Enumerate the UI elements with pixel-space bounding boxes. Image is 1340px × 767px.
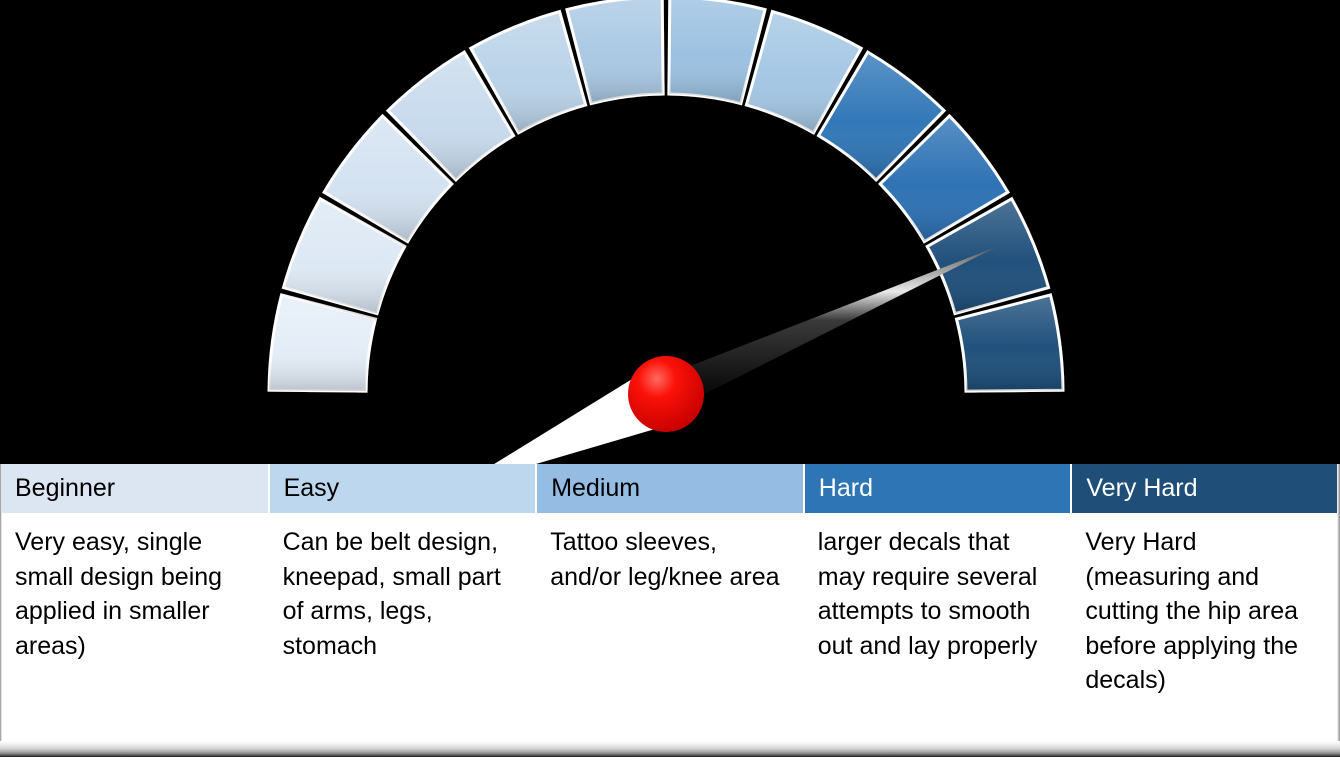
difficulty-legend-table: Beginner Easy Medium Hard Very Hard Very… [0,464,1340,767]
needle-hub-icon [628,356,704,432]
cell-beginner: Very easy, single small design being app… [1,514,269,754]
table-row: Very easy, single small design being app… [1,514,1339,754]
column-header-easy[interactable]: Easy [269,464,537,514]
table-left-edge [0,464,2,754]
difficulty-gauge [0,0,1340,470]
legend-table-element: Beginner Easy Medium Hard Very Hard Very… [1,464,1339,754]
column-header-very-hard[interactable]: Very Hard [1071,464,1339,514]
cell-hard: larger decals that may require several a… [804,514,1072,754]
cell-medium: Tattoo sleeves, and/or leg/knee area [536,514,804,754]
cell-easy: Can be belt design, kneepad, small part … [269,514,537,754]
cell-very-hard: Very Hard (measuring and cutting the hip… [1071,514,1339,754]
table-header-row: Beginner Easy Medium Hard Very Hard [1,464,1339,514]
gauge-segment-group [269,0,1063,391]
slide-canvas: Beginner Easy Medium Hard Very Hard Very… [0,0,1340,767]
gauge-needle [456,247,997,470]
column-header-hard[interactable]: Hard [804,464,1072,514]
gauge-container [0,0,1340,470]
column-header-beginner[interactable]: Beginner [1,464,269,514]
column-header-medium[interactable]: Medium [536,464,804,514]
